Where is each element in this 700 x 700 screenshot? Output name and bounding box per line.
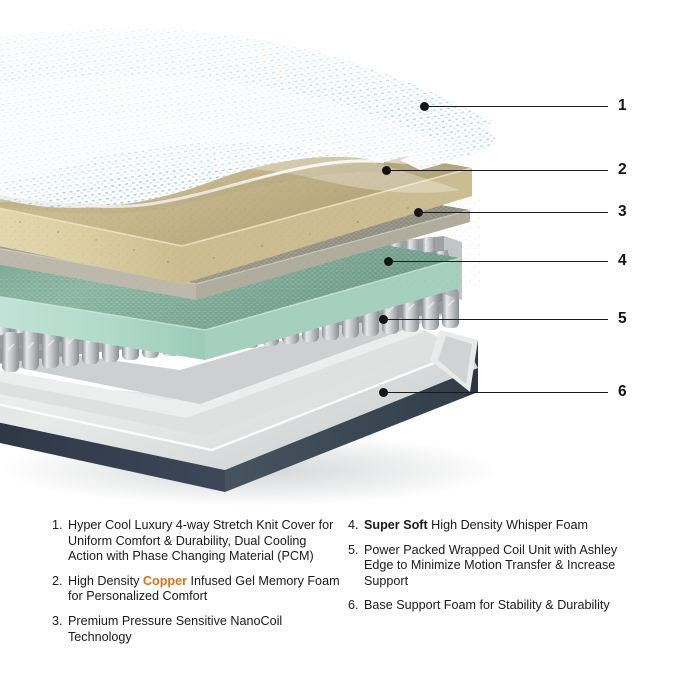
legend-emphasis: Super Soft <box>364 518 428 532</box>
legend-item-number: 4. <box>348 518 364 534</box>
legend: 1.Hyper Cool Luxury 4-way Stretch Knit C… <box>0 518 700 698</box>
legend-item: 6.Base Support Foam for Stability & Dura… <box>348 598 648 614</box>
legend-text-segment: Power Packed Wrapped Coil Unit with Ashl… <box>364 543 617 588</box>
legend-copper-highlight: Copper <box>143 574 187 588</box>
legend-column-left: 1.Hyper Cool Luxury 4-way Stretch Knit C… <box>52 518 342 654</box>
legend-item-number: 1. <box>52 518 68 534</box>
legend-item: 3.Premium Pressure Sensitive NanoCoil Te… <box>52 614 342 645</box>
callout-line-6 <box>385 392 608 393</box>
legend-item-text: Super Soft High Density Whisper Foam <box>364 518 648 534</box>
legend-text-segment: High Density <box>68 574 143 588</box>
legend-item-text: Premium Pressure Sensitive NanoCoil Tech… <box>68 614 342 645</box>
diagram-page: 1 2 3 4 5 6 1.Hyper Cool Luxury 4-way St… <box>0 0 700 700</box>
legend-item-text: Power Packed Wrapped Coil Unit with Ashl… <box>364 543 648 590</box>
callout-line-4 <box>390 261 608 262</box>
legend-item-number: 5. <box>348 543 364 559</box>
callout-number-3: 3 <box>618 204 627 220</box>
legend-text-segment: Base Support Foam for Stability & Durabi… <box>364 598 610 612</box>
legend-text-segment: Premium Pressure Sensitive NanoCoil Tech… <box>68 614 282 644</box>
legend-column-right: 4.Super Soft High Density Whisper Foam5.… <box>348 518 648 623</box>
legend-item: 4.Super Soft High Density Whisper Foam <box>348 518 648 534</box>
callout-number-6: 6 <box>618 384 627 400</box>
callout-line-5 <box>385 319 608 320</box>
legend-item-text: Hyper Cool Luxury 4-way Stretch Knit Cov… <box>68 518 342 565</box>
legend-item-number: 6. <box>348 598 364 614</box>
callout-number-2: 2 <box>618 162 627 178</box>
callout-number-5: 5 <box>618 311 627 327</box>
legend-text-segment: Hyper Cool Luxury 4-way Stretch Knit Cov… <box>68 518 333 563</box>
callout-number-4: 4 <box>618 253 627 269</box>
callout-line-3 <box>420 212 608 213</box>
legend-item: 5.Power Packed Wrapped Coil Unit with As… <box>348 543 648 590</box>
legend-item-text: Base Support Foam for Stability & Durabi… <box>364 598 648 614</box>
callout-line-2 <box>388 170 608 171</box>
mattress-exploded-illustration <box>0 0 700 510</box>
legend-text-segment: High Density Whisper Foam <box>428 518 588 532</box>
callout-line-1 <box>426 106 608 107</box>
legend-item-number: 3. <box>52 614 68 630</box>
legend-item-text: High Density Copper Infused Gel Memory F… <box>68 574 342 605</box>
legend-item: 2.High Density Copper Infused Gel Memory… <box>52 574 342 605</box>
legend-item-number: 2. <box>52 574 68 590</box>
callout-number-1: 1 <box>618 98 627 114</box>
legend-item: 1.Hyper Cool Luxury 4-way Stretch Knit C… <box>52 518 342 565</box>
